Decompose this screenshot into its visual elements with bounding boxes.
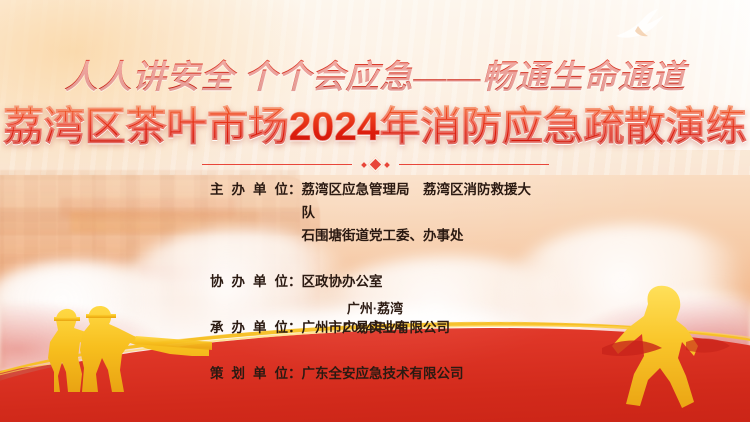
organizer-row: 策划单位 ： 广东全安应急技术有限公司 bbox=[210, 362, 540, 408]
divider-dot-left bbox=[361, 162, 367, 168]
organizer-row: 主办单位 ： 石围塘街道党工委、办事处 bbox=[210, 224, 540, 270]
organizer-colon: ： bbox=[288, 362, 302, 408]
organizer-row: 主办单位 ： 荔湾区应急管理局 荔湾区消防救援大队 bbox=[210, 178, 540, 224]
poster-canvas: 人人讲安全 个个会应急——畅通生命通道 荔湾区茶叶市场2024年消防应急疏散演练… bbox=[0, 0, 750, 422]
organizer-label: 主办单位 bbox=[210, 178, 288, 224]
organizer-block: 主办单位 ： 荔湾区应急管理局 荔湾区消防救援大队 主办单位 ： 石围塘街道党工… bbox=[0, 178, 750, 408]
poster-main-title: 荔湾区茶叶市场2024年消防应急疏散演练 bbox=[0, 104, 750, 150]
organizer-label: 策划单位 bbox=[210, 362, 288, 408]
divider-line-right bbox=[399, 164, 549, 166]
organizer-value: 广东全安应急技术有限公司 bbox=[302, 362, 541, 408]
organizer-colon: ： bbox=[288, 178, 302, 224]
divider-dot-right bbox=[384, 162, 390, 168]
organizer-value: 荔湾区应急管理局 荔湾区消防救援大队 bbox=[302, 178, 541, 224]
date-text: 2024年6月 bbox=[0, 318, 750, 337]
poster-subtitle: 人人讲安全 个个会应急——畅通生命通道 bbox=[0, 50, 750, 98]
organizer-value: 石围塘街道党工委、办事处 bbox=[302, 224, 541, 270]
place-date-block: 广州·荔湾 2024年6月 bbox=[0, 299, 750, 337]
place-text: 广州·荔湾 bbox=[0, 299, 750, 318]
divider-line-left bbox=[202, 164, 352, 166]
poster-content: 人人讲安全 个个会应急——畅通生命通道 荔湾区茶叶市场2024年消防应急疏散演练… bbox=[0, 0, 750, 422]
divider-diamond bbox=[367, 157, 383, 173]
ornamental-divider bbox=[0, 159, 750, 170]
divider-ornament bbox=[362, 159, 389, 170]
